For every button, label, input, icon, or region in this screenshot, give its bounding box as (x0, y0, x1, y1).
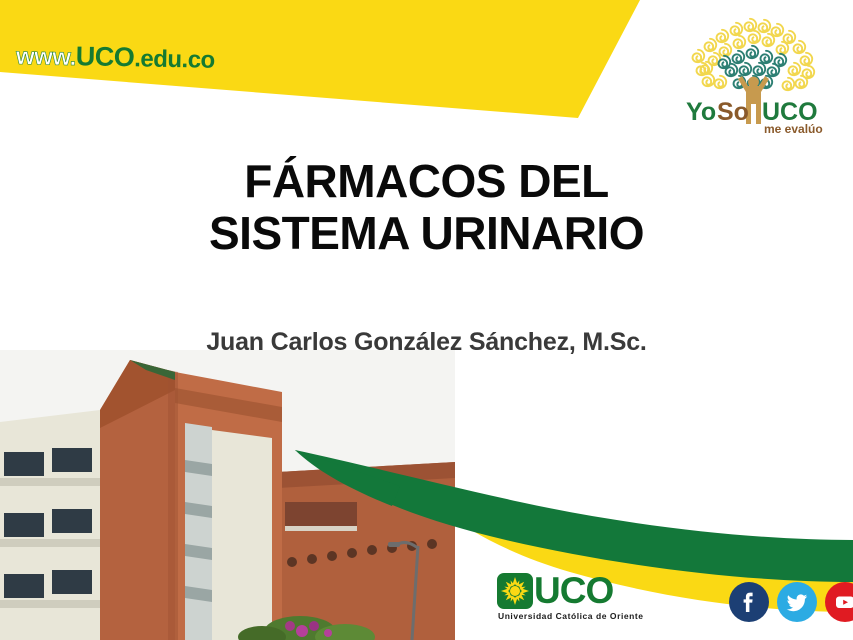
uco-sun-mark-icon (497, 573, 533, 609)
title-line-1: FÁRMACOS DEL (0, 155, 853, 207)
yo-soy-uco-logo: Yo So UCO me evalúo (676, 12, 831, 137)
twitter-icon[interactable] (777, 582, 817, 622)
title-line-2: SISTEMA URINARIO (0, 207, 853, 259)
youtube-icon[interactable] (825, 582, 853, 622)
social-links (729, 582, 853, 622)
svg-text:So: So (717, 98, 749, 126)
url-prefix: www. (16, 43, 76, 71)
title-slide: www.UCO.edu.co (0, 0, 853, 640)
campus-building-photo (0, 350, 455, 640)
url-suffix: .edu.co (134, 45, 215, 74)
facebook-icon[interactable] (729, 582, 769, 622)
svg-text:me evalúo: me evalúo (764, 122, 823, 136)
page-title: FÁRMACOS DEL SISTEMA URINARIO (0, 155, 853, 260)
uco-wordmark: UCO (534, 572, 613, 609)
url-brand: UCO (75, 41, 134, 72)
website-url: www.UCO.edu.co (16, 40, 215, 75)
uco-institutional-logo: UCO Universidad Católica de Oriente (497, 572, 644, 621)
author-name: Juan Carlos González Sánchez, M.Sc. (0, 328, 853, 357)
svg-text:Yo: Yo (686, 98, 716, 126)
uco-subtitle: Universidad Católica de Oriente (498, 611, 644, 621)
